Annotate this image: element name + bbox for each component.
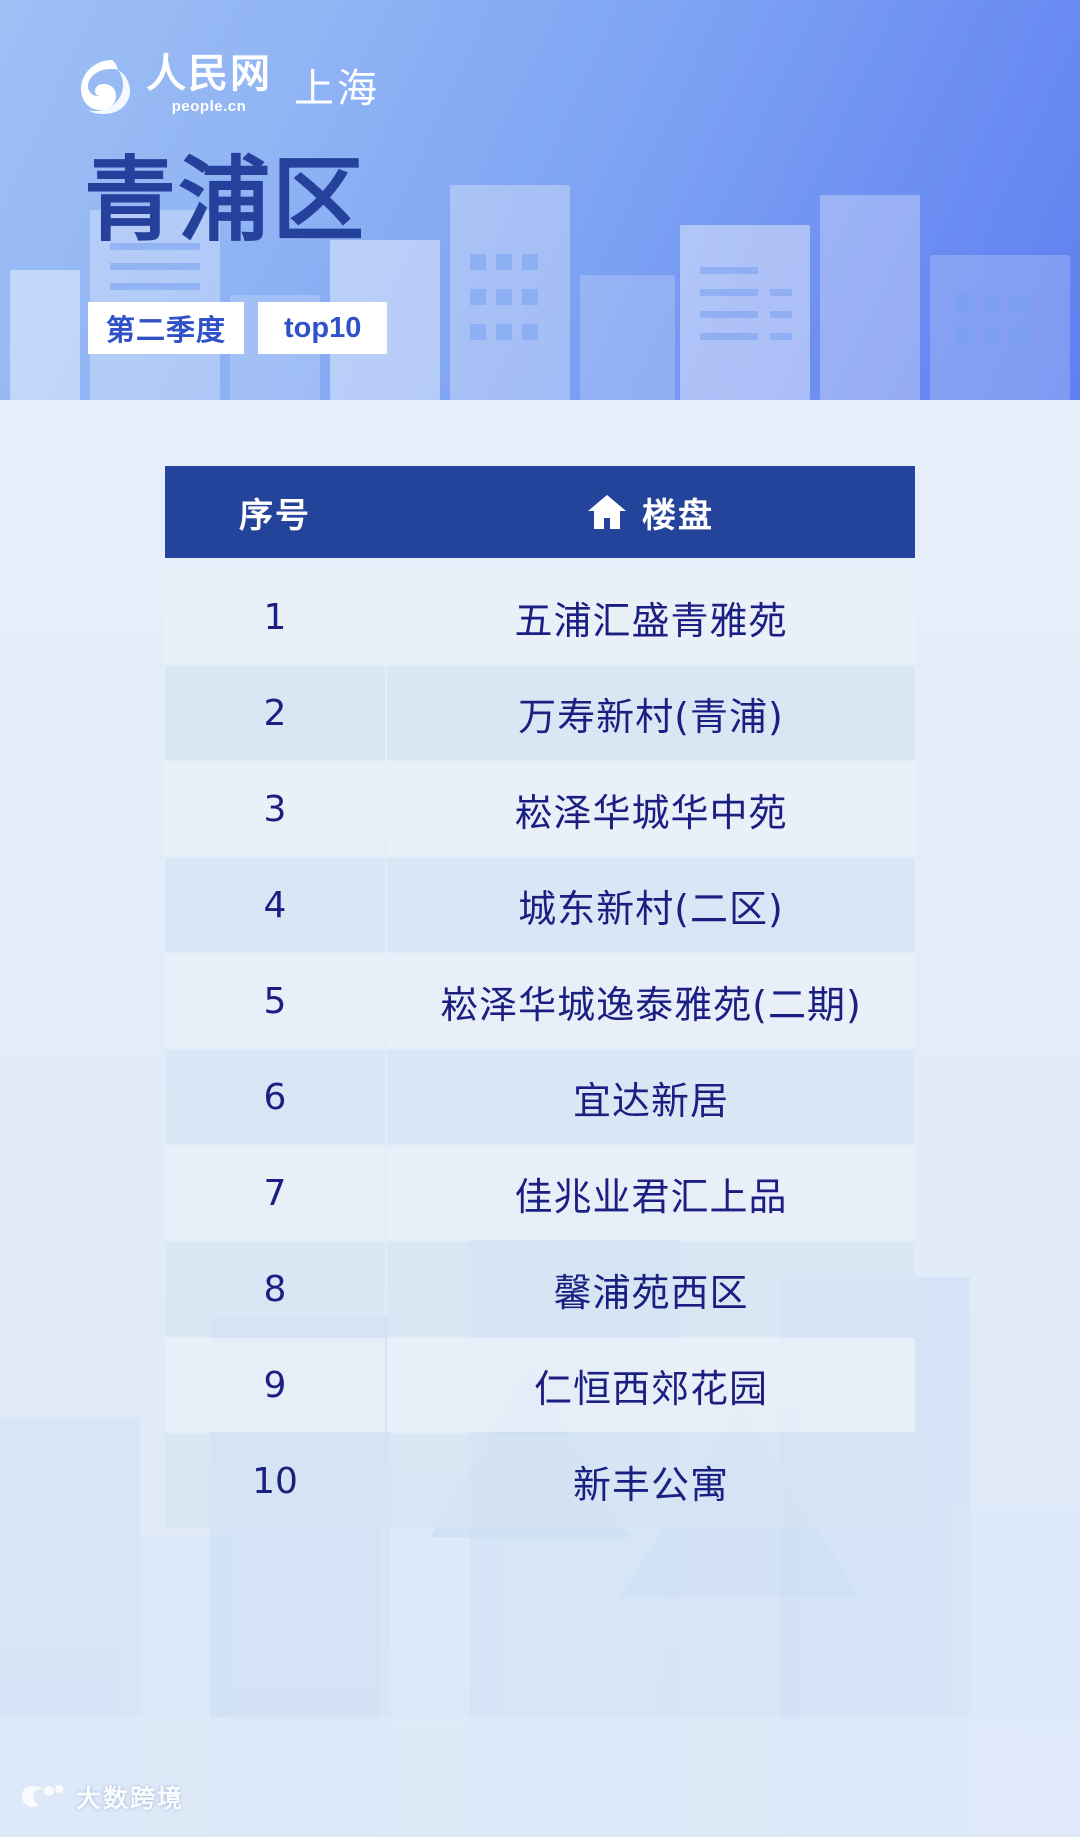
table-row[interactable]: 5 崧泽华城逸泰雅苑(二期) (165, 954, 915, 1048)
column-header-property: 楼盘 (385, 488, 915, 537)
column-header-rank: 序号 (165, 488, 385, 537)
top10-badge[interactable]: top10 (258, 302, 387, 354)
dashu-kuajing-logo-icon (20, 1782, 66, 1812)
table-row[interactable]: 2 万寿新村(青浦) (165, 666, 915, 760)
cell-rank: 9 (165, 1338, 385, 1432)
cell-rank: 3 (165, 762, 385, 856)
table-row[interactable]: 1 五浦汇盛青雅苑 (165, 570, 915, 664)
table-row[interactable]: 4 城东新村(二区) (165, 858, 915, 952)
footer-watermark: 大数跨境 (20, 1779, 184, 1815)
site-logo[interactable]: 人民网 people.cn 上海 (72, 54, 380, 115)
table-row[interactable]: 8 馨浦苑西区 (165, 1242, 915, 1336)
table-body: 1 五浦汇盛青雅苑 2 万寿新村(青浦) 3 崧泽华城华中苑 4 城东新村(二区… (165, 570, 915, 1528)
cell-property-name: 崧泽华城逸泰雅苑(二期) (387, 954, 915, 1048)
table-header-row: 序号 楼盘 (165, 466, 915, 558)
cell-property-name: 宜达新居 (387, 1050, 915, 1144)
cell-property-name: 佳兆业君汇上品 (387, 1146, 915, 1240)
cell-property-name: 万寿新村(青浦) (387, 666, 915, 760)
header-badges: 第二季度 top10 (88, 302, 387, 354)
cell-property-name: 五浦汇盛青雅苑 (387, 570, 915, 664)
logo-city-label: 上海 (294, 56, 380, 114)
table-row[interactable]: 7 佳兆业君汇上品 (165, 1146, 915, 1240)
cell-rank: 10 (165, 1434, 385, 1528)
quarter-badge[interactable]: 第二季度 (88, 302, 244, 354)
cell-property-name: 城东新村(二区) (387, 858, 915, 952)
table-row[interactable]: 3 崧泽华城华中苑 (165, 762, 915, 856)
cell-property-name: 新丰公寓 (387, 1434, 915, 1528)
cell-rank: 7 (165, 1146, 385, 1240)
table-row[interactable]: 9 仁恒西郊花园 (165, 1338, 915, 1432)
ranking-table: 序号 楼盘 1 五浦汇盛青雅苑 2 万寿新村(青浦) 3 崧泽华城华中苑 4 城… (165, 466, 915, 1528)
cell-rank: 8 (165, 1242, 385, 1336)
cell-property-name: 馨浦苑西区 (387, 1242, 915, 1336)
cell-rank: 2 (165, 666, 385, 760)
home-icon (586, 493, 628, 531)
cell-property-name: 仁恒西郊花园 (387, 1338, 915, 1432)
watermark-label: 大数跨境 (76, 1779, 184, 1815)
column-header-property-label: 楼盘 (642, 488, 714, 537)
table-row[interactable]: 6 宜达新居 (165, 1050, 915, 1144)
cell-rank: 1 (165, 570, 385, 664)
page-header: 人民网 people.cn 上海 青浦区 第二季度 top10 (0, 0, 1080, 400)
people-cn-crescent-logo-icon (72, 56, 130, 114)
cell-rank: 6 (165, 1050, 385, 1144)
page-title: 青浦区 (84, 155, 366, 247)
table-row[interactable]: 10 新丰公寓 (165, 1434, 915, 1528)
logo-text-en: people.cn (172, 98, 247, 115)
cell-rank: 5 (165, 954, 385, 1048)
logo-text-cn: 人民网 (146, 54, 272, 94)
cell-rank: 4 (165, 858, 385, 952)
cell-property-name: 崧泽华城华中苑 (387, 762, 915, 856)
